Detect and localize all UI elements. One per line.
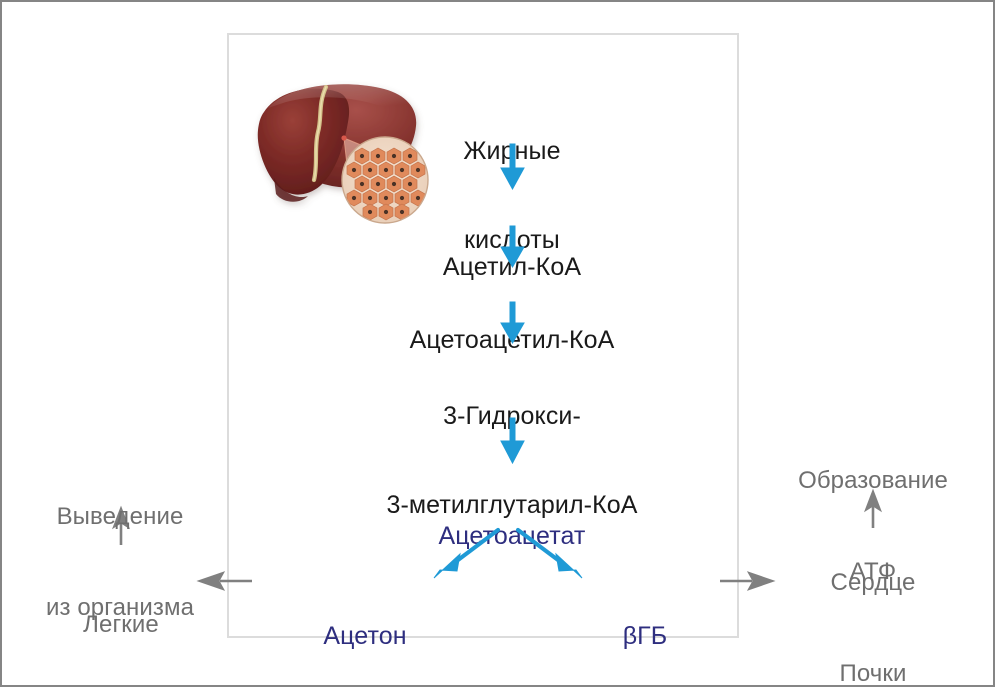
arrow-diagonal-down-right-blue bbox=[510, 526, 590, 580]
arrow-diagonal-down-left-blue bbox=[426, 526, 506, 580]
left-panel-organ-0: Легкие bbox=[41, 610, 201, 640]
arrow-down-blue-4 bbox=[498, 418, 528, 464]
product-acetone: Ацетон bbox=[277, 563, 453, 687]
right-panel-organ-0: Сердце bbox=[792, 568, 954, 598]
arrow-down-blue-1 bbox=[498, 144, 528, 190]
right-panel-heading-line1: Образование bbox=[764, 466, 982, 496]
left-panel-organs: Легкие Почки Кожа bbox=[41, 550, 201, 687]
product-bhb: βГБ bbox=[580, 563, 710, 687]
product-acetone-label: Ацетон bbox=[277, 622, 453, 652]
diagram-canvas: Жирные кислоты Ацетил-КоА Ацетоацетил-Ко… bbox=[0, 0, 995, 687]
right-panel-organ-1: Почки bbox=[792, 659, 954, 687]
product-bhb-label: βГБ bbox=[580, 622, 710, 652]
arrow-down-blue-2 bbox=[498, 226, 528, 268]
arrow-down-blue-3 bbox=[498, 302, 528, 344]
right-panel-organs: Сердце Почки Мозг Мышцы… bbox=[792, 508, 954, 687]
left-panel-heading-line1: Выведение bbox=[12, 502, 228, 532]
